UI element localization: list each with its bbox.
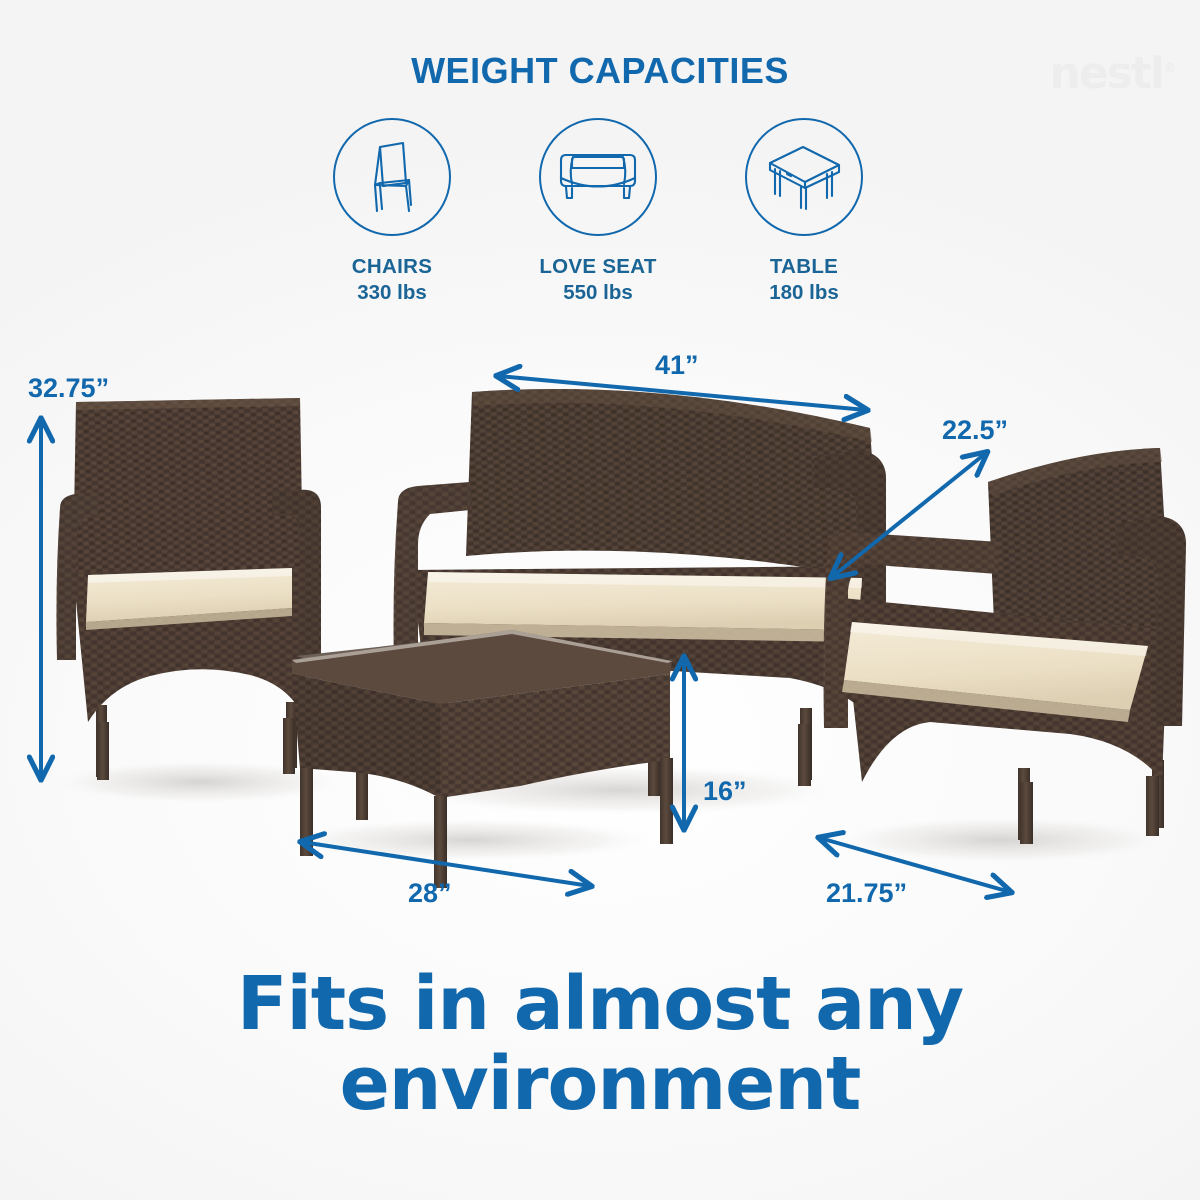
brand-logo-text: nestl bbox=[1050, 48, 1163, 99]
dimension-label-chair-width: 21.75” bbox=[826, 878, 907, 909]
registered-trademark-icon: ® bbox=[1163, 61, 1176, 76]
brand-logo: nestl® bbox=[1050, 48, 1176, 99]
dimension-label-table-height: 16” bbox=[703, 776, 747, 807]
infographic-canvas: WEIGHT CAPACITIES nestl® CHAIRS 330 lbs bbox=[0, 0, 1200, 1200]
capacity-label: LOVE SEAT bbox=[498, 254, 698, 280]
capacity-item-table: TABLE 180 lbs bbox=[704, 118, 904, 306]
dimension-label-chair-depth: 22.5” bbox=[942, 415, 1008, 446]
tagline: Fits in almost any environment bbox=[0, 965, 1200, 1125]
capacity-label: TABLE bbox=[704, 254, 904, 280]
capacity-value: 550 lbs bbox=[498, 280, 698, 306]
capacity-item-chairs: CHAIRS 330 lbs bbox=[292, 118, 492, 306]
capacity-label: CHAIRS bbox=[292, 254, 492, 280]
weight-capacity-group: CHAIRS 330 lbs LOVE SEAT 550 lbs bbox=[300, 118, 920, 328]
capacity-value: 330 lbs bbox=[292, 280, 492, 306]
chair-icon bbox=[333, 118, 451, 236]
page-title: WEIGHT CAPACITIES bbox=[0, 50, 1200, 92]
capacity-value: 180 lbs bbox=[704, 280, 904, 306]
tagline-line-1: Fits in almost any bbox=[0, 965, 1200, 1045]
tagline-line-2: environment bbox=[0, 1045, 1200, 1125]
dimension-arrow-chair-depth bbox=[832, 453, 986, 577]
capacity-item-love-seat: LOVE SEAT 550 lbs bbox=[498, 118, 698, 306]
dimension-label-chair-height: 32.75” bbox=[28, 373, 109, 404]
dimension-arrow-loveseat-width bbox=[498, 376, 866, 410]
love-seat-icon bbox=[539, 118, 657, 236]
dimension-label-loveseat-width: 41” bbox=[655, 350, 699, 381]
table-icon bbox=[745, 118, 863, 236]
dimension-arrows-layer bbox=[0, 330, 1200, 950]
dimension-label-table-width: 28” bbox=[408, 878, 452, 909]
